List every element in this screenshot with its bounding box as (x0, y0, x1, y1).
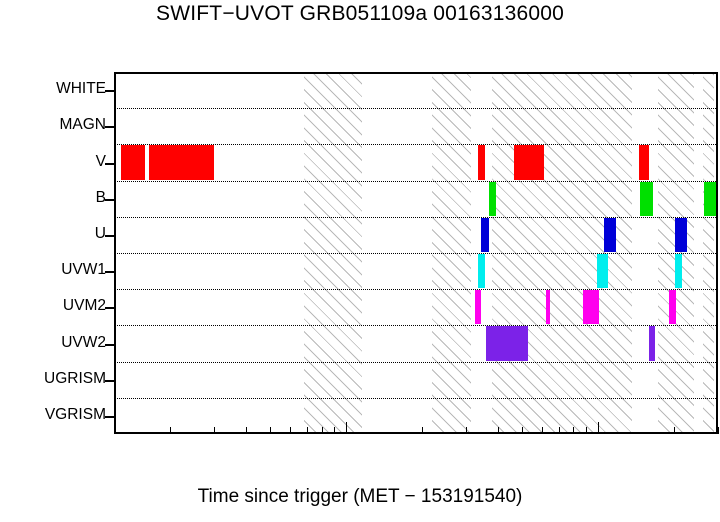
y-tick (105, 235, 114, 237)
exposure-bar-uvw1 (478, 254, 485, 288)
y-tick (105, 307, 114, 309)
plot-area (114, 72, 718, 434)
y-tick (105, 344, 114, 346)
x-tick-minor (270, 427, 271, 434)
y-tick (105, 163, 114, 165)
x-tick-minor (466, 427, 467, 434)
gridline (114, 253, 718, 254)
y-tick-label-b: B (96, 189, 106, 207)
exposure-bar-uvw2 (486, 326, 528, 360)
x-tick-minor (322, 427, 323, 434)
exposure-bar-v (639, 145, 649, 179)
y-tick-label-ugrism: UGRISM (44, 370, 106, 388)
x-tick-minor (290, 427, 291, 434)
exposure-bar-v (149, 145, 214, 179)
exposure-bar-b (640, 182, 653, 216)
gridline (114, 108, 718, 109)
x-tick-minor (718, 427, 719, 434)
x-tick-minor (498, 427, 499, 434)
exposure-bar-uvw2 (649, 326, 655, 360)
x-tick-minor (307, 427, 308, 434)
x-tick-minor (170, 427, 171, 434)
exposure-bar-uvm2 (583, 290, 599, 324)
y-tick-label-v: V (96, 153, 106, 171)
exposure-bar-uvw1 (675, 254, 682, 288)
y-tick-label-uvw1: UVW1 (61, 261, 106, 279)
y-tick-label-white: WHITE (56, 80, 106, 98)
x-tick-minor (246, 427, 247, 434)
plot-area-wrapper (114, 72, 718, 434)
exposure-bar-uvm2 (546, 290, 550, 324)
exposure-bar-uvw1 (597, 254, 609, 288)
gridline (114, 181, 718, 182)
gridline (114, 362, 718, 363)
gridline (114, 217, 718, 218)
x-tick-minor (522, 427, 523, 434)
y-tick (105, 416, 114, 418)
chart-title: SWIFT−UVOT GRB051109a 00163136000 (0, 2, 720, 26)
x-tick-minor (334, 427, 335, 434)
x-tick-minor (422, 427, 423, 434)
x-tick-minor (559, 427, 560, 434)
y-tick (105, 90, 114, 92)
exposure-bar-u (604, 218, 616, 252)
exposure-bar-v (121, 145, 145, 179)
x-tick-major (346, 422, 347, 434)
x-axis-title: Time since trigger (MET − 153191540) (0, 486, 720, 508)
exposure-bar-uvm2 (669, 290, 676, 324)
x-tick-minor (214, 427, 215, 434)
y-tick (105, 126, 114, 128)
exposure-bar-b (489, 182, 496, 216)
y-tick (105, 271, 114, 273)
x-tick-minor (573, 427, 574, 434)
exposure-bar-u (481, 218, 489, 252)
x-tick-minor (674, 427, 675, 434)
exposure-bar-b (704, 182, 718, 216)
y-tick-label-magn: MAGN (60, 116, 107, 134)
x-tick-minor (586, 427, 587, 434)
chart-root: SWIFT−UVOT GRB051109a 00163136000 WHITEM… (0, 0, 720, 522)
y-tick (105, 199, 114, 201)
gridline (114, 398, 718, 399)
exposure-bar-v (514, 145, 544, 179)
gridline (114, 325, 718, 326)
y-tick-label-uvm2: UVM2 (63, 297, 106, 315)
exposure-bar-v (478, 145, 485, 179)
y-tick-label-vgrism: VGRISM (45, 406, 106, 424)
x-tick-minor (542, 427, 543, 434)
exposure-bar-uvm2 (475, 290, 482, 324)
exposure-bar-u (675, 218, 687, 252)
y-tick (105, 380, 114, 382)
y-tick-label-uvw2: UVW2 (61, 334, 106, 352)
gridline (114, 289, 718, 290)
y-tick-label-u: U (95, 225, 106, 243)
x-tick-major (598, 422, 599, 434)
